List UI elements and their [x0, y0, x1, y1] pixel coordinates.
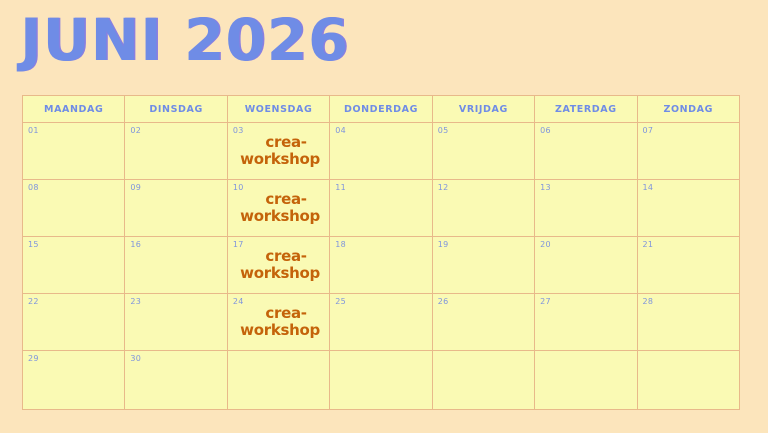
- calendar-page: JUNI 2026 MAANDAG DINSDAG WOENSDAG DONDE…: [0, 0, 768, 433]
- day-cell-empty[interactable]: [228, 351, 330, 410]
- weekday-header-dinsdag: DINSDAG: [125, 96, 227, 123]
- weekday-header-vrijdag: VRIJDAG: [433, 96, 535, 123]
- day-number: 30: [130, 354, 222, 364]
- day-number: 23: [130, 297, 222, 307]
- event-label[interactable]: crea- workshop: [233, 305, 325, 339]
- event-line-1: crea-: [247, 134, 325, 151]
- day-number: 26: [438, 297, 530, 307]
- weekday-header-label: ZATERDAG: [555, 104, 617, 115]
- day-number: 20: [540, 240, 632, 250]
- page-title: JUNI 2026: [20, 8, 349, 72]
- week-row: 22 23 24 crea- workshop 25 26 27: [23, 294, 740, 351]
- day-number: 11: [335, 183, 427, 193]
- day-number: 29: [28, 354, 120, 364]
- day-number: 06: [540, 126, 632, 136]
- weekday-header-zondag: ZONDAG: [638, 96, 740, 123]
- day-cell[interactable]: 17 crea- workshop: [228, 237, 330, 294]
- weekday-header-woensdag: WOENSDAG: [228, 96, 330, 123]
- day-number: 14: [643, 183, 735, 193]
- day-cell[interactable]: 09: [125, 180, 227, 237]
- day-number: 12: [438, 183, 530, 193]
- event-line-2: workshop: [235, 265, 325, 282]
- weekday-header-label: DINSDAG: [149, 104, 202, 115]
- weekday-header-label: ZONDAG: [663, 104, 713, 115]
- day-number: 01: [28, 126, 120, 136]
- day-cell[interactable]: 23: [125, 294, 227, 351]
- day-number: 02: [130, 126, 222, 136]
- day-number: 08: [28, 183, 120, 193]
- weekday-header-donderdag: DONDERDAG: [330, 96, 432, 123]
- day-number: 21: [643, 240, 735, 250]
- week-row: 01 02 03 crea- workshop 04 05 06: [23, 123, 740, 180]
- weekday-header-zaterdag: ZATERDAG: [535, 96, 637, 123]
- day-cell[interactable]: 01: [23, 123, 125, 180]
- day-cell-empty[interactable]: [433, 351, 535, 410]
- day-number: 15: [28, 240, 120, 250]
- day-cell[interactable]: 05: [433, 123, 535, 180]
- event-line-1: crea-: [247, 248, 325, 265]
- event-label[interactable]: crea- workshop: [233, 134, 325, 168]
- day-cell[interactable]: 16: [125, 237, 227, 294]
- day-cell[interactable]: 12: [433, 180, 535, 237]
- day-cell-empty[interactable]: [638, 351, 740, 410]
- week-row: 08 09 10 crea- workshop 11 12 13: [23, 180, 740, 237]
- day-number: 19: [438, 240, 530, 250]
- day-number: 16: [130, 240, 222, 250]
- day-cell[interactable]: 25: [330, 294, 432, 351]
- day-cell[interactable]: 14: [638, 180, 740, 237]
- day-cell[interactable]: 08: [23, 180, 125, 237]
- day-cell[interactable]: 02: [125, 123, 227, 180]
- day-cell[interactable]: 03 crea- workshop: [228, 123, 330, 180]
- day-cell[interactable]: 20: [535, 237, 637, 294]
- weekday-header-label: VRIJDAG: [459, 104, 508, 115]
- day-cell[interactable]: 27: [535, 294, 637, 351]
- day-cell[interactable]: 26: [433, 294, 535, 351]
- weekday-header-row: MAANDAG DINSDAG WOENSDAG DONDERDAG VRIJD…: [23, 96, 740, 123]
- day-cell[interactable]: 11: [330, 180, 432, 237]
- day-cell-empty[interactable]: [330, 351, 432, 410]
- day-cell[interactable]: 10 crea- workshop: [228, 180, 330, 237]
- day-cell[interactable]: 30: [125, 351, 227, 410]
- event-line-2: workshop: [235, 208, 325, 225]
- event-line-1: crea-: [247, 191, 325, 208]
- day-cell[interactable]: 24 crea- workshop: [228, 294, 330, 351]
- day-number: 13: [540, 183, 632, 193]
- day-number: 18: [335, 240, 427, 250]
- day-cell[interactable]: 04: [330, 123, 432, 180]
- day-cell[interactable]: 15: [23, 237, 125, 294]
- day-cell[interactable]: 21: [638, 237, 740, 294]
- weekday-header-maandag: MAANDAG: [23, 96, 125, 123]
- day-number: 22: [28, 297, 120, 307]
- day-number: 05: [438, 126, 530, 136]
- weekday-header-label: WOENSDAG: [245, 104, 313, 115]
- day-cell-empty[interactable]: [535, 351, 637, 410]
- day-cell[interactable]: 19: [433, 237, 535, 294]
- day-cell[interactable]: 13: [535, 180, 637, 237]
- day-number: 25: [335, 297, 427, 307]
- event-line-1: crea-: [247, 305, 325, 322]
- weekday-header-label: DONDERDAG: [344, 104, 418, 115]
- event-line-2: workshop: [235, 151, 325, 168]
- day-number: 07: [643, 126, 735, 136]
- day-number: 04: [335, 126, 427, 136]
- day-cell[interactable]: 06: [535, 123, 637, 180]
- week-row: 15 16 17 crea- workshop 18 19 20: [23, 237, 740, 294]
- calendar-grid: MAANDAG DINSDAG WOENSDAG DONDERDAG VRIJD…: [22, 95, 740, 410]
- week-row: 29 30: [23, 351, 740, 410]
- event-label[interactable]: crea- workshop: [233, 248, 325, 282]
- event-label[interactable]: crea- workshop: [233, 191, 325, 225]
- day-number: 27: [540, 297, 632, 307]
- day-number: 09: [130, 183, 222, 193]
- event-line-2: workshop: [235, 322, 325, 339]
- day-cell[interactable]: 29: [23, 351, 125, 410]
- weekday-header-label: MAANDAG: [44, 104, 103, 115]
- day-cell[interactable]: 28: [638, 294, 740, 351]
- day-cell[interactable]: 18: [330, 237, 432, 294]
- day-cell[interactable]: 22: [23, 294, 125, 351]
- day-number: 28: [643, 297, 735, 307]
- day-cell[interactable]: 07: [638, 123, 740, 180]
